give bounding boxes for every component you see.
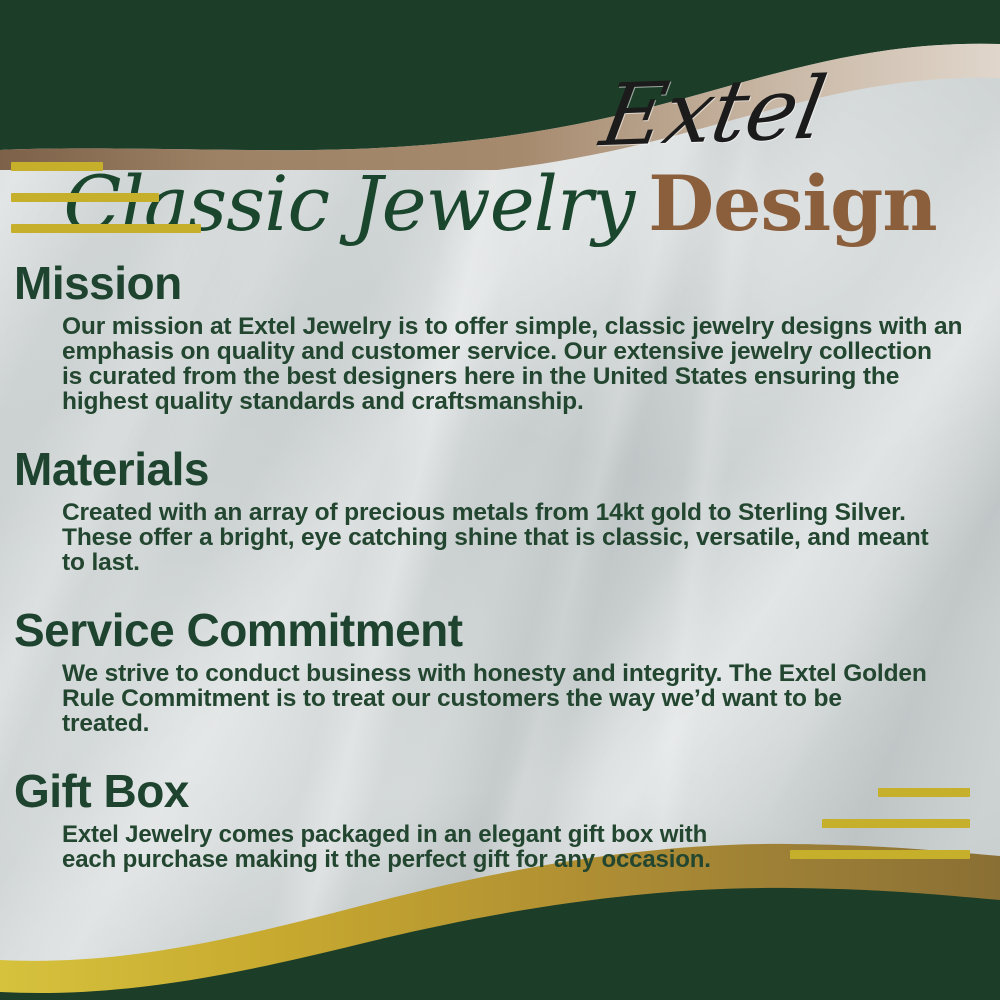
body-line: is curated from the best designers here … (62, 364, 964, 389)
section-body-materials: Created with an array of precious metals… (0, 500, 1000, 575)
page-title-accent: Design (648, 159, 936, 248)
gold-rule-long (11, 224, 201, 233)
section-heading-mission: Mission (0, 256, 1000, 314)
poster-canvas: Extel Classic JewelryDesign Mission Our … (0, 0, 1000, 1000)
section-body-gift-box: Extel Jewelry comes packaged in an elega… (0, 822, 1000, 872)
section-materials: Materials Created with an array of preci… (0, 442, 1000, 575)
section-heading-materials: Materials (0, 442, 1000, 500)
brand-logo-extel: Extel (594, 56, 973, 165)
body-line: We strive to conduct business with hones… (62, 661, 964, 686)
section-body-service-commitment: We strive to conduct business with hones… (0, 661, 1000, 736)
section-heading-service-commitment: Service Commitment (0, 603, 1000, 661)
section-heading-gift-box: Gift Box (0, 764, 1000, 822)
section-body-mission: Our mission at Extel Jewelry is to offer… (0, 314, 1000, 414)
content-sections: Mission Our mission at Extel Jewelry is … (0, 256, 1000, 872)
body-line: Rule Commitment is to treat our customer… (62, 686, 964, 711)
body-line: emphasis on quality and customer service… (62, 339, 964, 364)
body-line: These offer a bright, eye catching shine… (62, 525, 964, 550)
gold-rules-left (11, 162, 201, 233)
body-line: Our mission at Extel Jewelry is to offer… (62, 314, 964, 339)
section-mission: Mission Our mission at Extel Jewelry is … (0, 256, 1000, 414)
body-line: treated. (62, 711, 964, 736)
body-line: Created with an array of precious metals… (62, 500, 964, 525)
section-gift-box: Gift Box Extel Jewelry comes packaged in… (0, 764, 1000, 872)
body-line: Extel Jewelry comes packaged in an elega… (62, 822, 964, 847)
gold-rule-medium (11, 193, 159, 202)
body-line: each purchase making it the perfect gift… (62, 847, 964, 872)
body-line: to last. (62, 550, 964, 575)
gold-rule-short (11, 162, 103, 171)
section-service-commitment: Service Commitment We strive to conduct … (0, 603, 1000, 736)
body-line: highest quality standards and craftsmans… (62, 389, 964, 414)
